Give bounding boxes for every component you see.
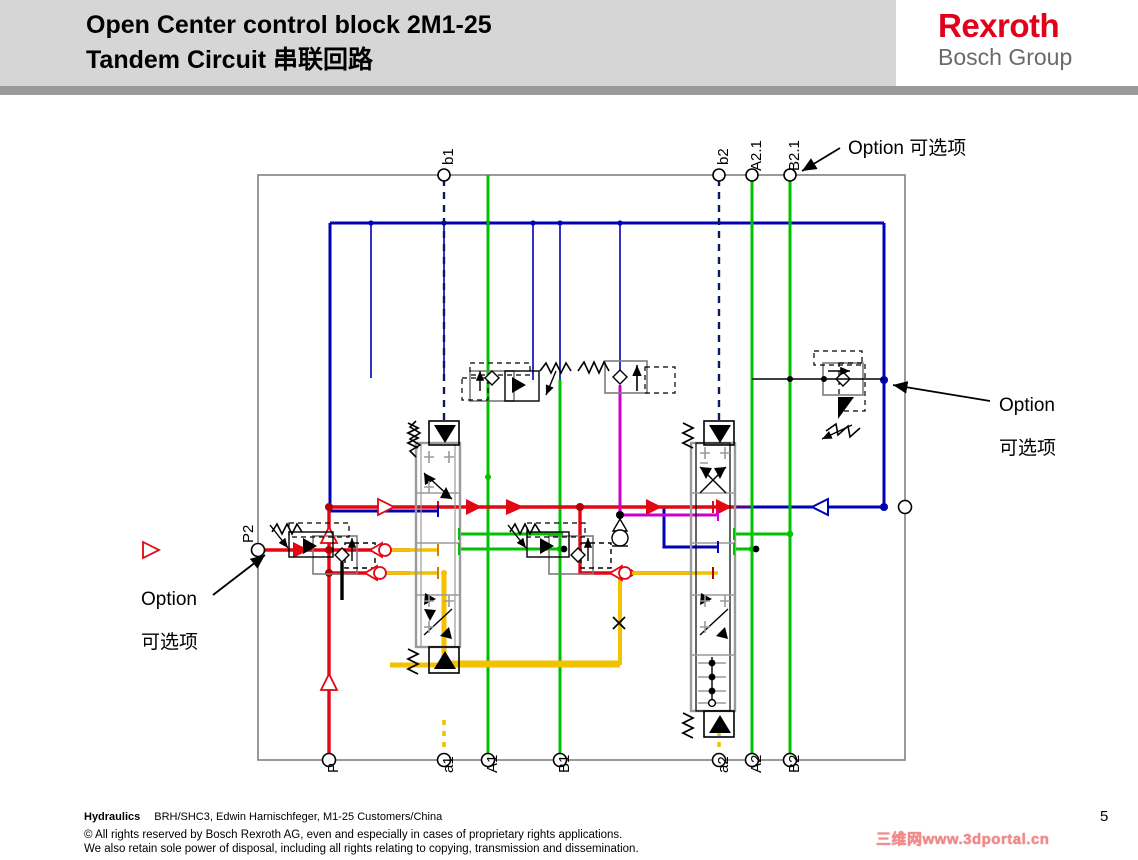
load-sense-check-valve bbox=[612, 519, 628, 546]
port-label-b1: b1 bbox=[440, 148, 457, 165]
service-line-network bbox=[459, 175, 790, 760]
check-valve-b bbox=[365, 566, 386, 580]
port-label-a2: a2 bbox=[715, 756, 732, 773]
annotation-option-right-en: Option bbox=[999, 395, 1055, 417]
tank-line-network bbox=[330, 223, 884, 547]
port-label-b2: b2 bbox=[715, 148, 732, 165]
port-label-B2-1: B2.1 bbox=[786, 140, 803, 171]
section-1-spool bbox=[408, 421, 461, 674]
port-label-B1: B1 bbox=[556, 755, 573, 773]
service-junctions bbox=[485, 474, 793, 552]
footer-credits: HydraulicsBRH/SHC3, Edwin Harnischfeger,… bbox=[84, 810, 1044, 824]
pilot-loop bbox=[444, 575, 620, 663]
port-label-B2: B2 bbox=[786, 755, 803, 773]
port-label-A2: A2 bbox=[748, 755, 765, 773]
load-sense-relief-valve bbox=[578, 361, 675, 393]
port-label-a1: a1 bbox=[440, 756, 457, 773]
header-divider bbox=[0, 86, 1138, 95]
rexroth-logo: Rexroth Bosch Group bbox=[938, 8, 1134, 71]
annotation-option-left-zh: 可选项 bbox=[141, 627, 198, 654]
annotation-option-left-en: Option bbox=[141, 589, 197, 611]
annotation-option-right-zh: 可选项 bbox=[999, 433, 1056, 460]
title-line-2: Tandem Circuit 串联回路 bbox=[86, 43, 886, 78]
pressure-line-network bbox=[258, 507, 752, 760]
site-watermark: 三维网www.3dportal.cn bbox=[876, 828, 1049, 849]
diagram-frame bbox=[258, 175, 905, 760]
annotation-option-top-right: Option 可选项 bbox=[848, 133, 966, 160]
section-2-spool bbox=[683, 421, 735, 738]
logo-rexroth-text: Rexroth bbox=[938, 8, 1134, 44]
tank-flow-arrow bbox=[812, 499, 828, 515]
load-sense-line bbox=[620, 385, 718, 515]
port-label-P: P bbox=[325, 763, 342, 773]
page-header: Open Center control block 2M1-25 Tandem … bbox=[0, 0, 1138, 86]
check-valve-c bbox=[610, 566, 631, 580]
page-title: Open Center control block 2M1-25 Tandem … bbox=[86, 8, 886, 78]
pilot-junctions bbox=[441, 570, 447, 576]
annotation-leader-top-right bbox=[802, 148, 840, 171]
tank-rail-junctions bbox=[368, 220, 888, 511]
main-relief-valve bbox=[270, 507, 375, 600]
port-label-P2: P2 bbox=[240, 525, 257, 543]
port-relief-valve-A2 bbox=[752, 351, 884, 439]
port-connector-P2 bbox=[252, 544, 265, 557]
port-relief-valve-A1 bbox=[462, 363, 571, 401]
port-label-A1: A1 bbox=[484, 755, 501, 773]
check-valve-a bbox=[370, 543, 391, 557]
annotation-leader-right bbox=[893, 385, 990, 401]
logo-bosch-group-text: Bosch Group bbox=[938, 44, 1134, 71]
page-number: 5 bbox=[1100, 808, 1108, 825]
port-connector-tank-out bbox=[899, 501, 912, 514]
title-line-1: Open Center control block 2M1-25 bbox=[86, 8, 886, 43]
pilot-port-lines bbox=[444, 179, 719, 420]
port-label-A2-1: A2.1 bbox=[748, 140, 765, 171]
footer-authors: BRH/SHC3, Edwin Harnischfeger, M1-25 Cus… bbox=[154, 811, 442, 823]
hydraulic-circuit-diagram: b1 b2 A2.1 B2.1 P a1 A1 B1 a2 A2 B2 P2 O… bbox=[0, 95, 1138, 810]
footer-dept: Hydraulics bbox=[84, 811, 140, 823]
